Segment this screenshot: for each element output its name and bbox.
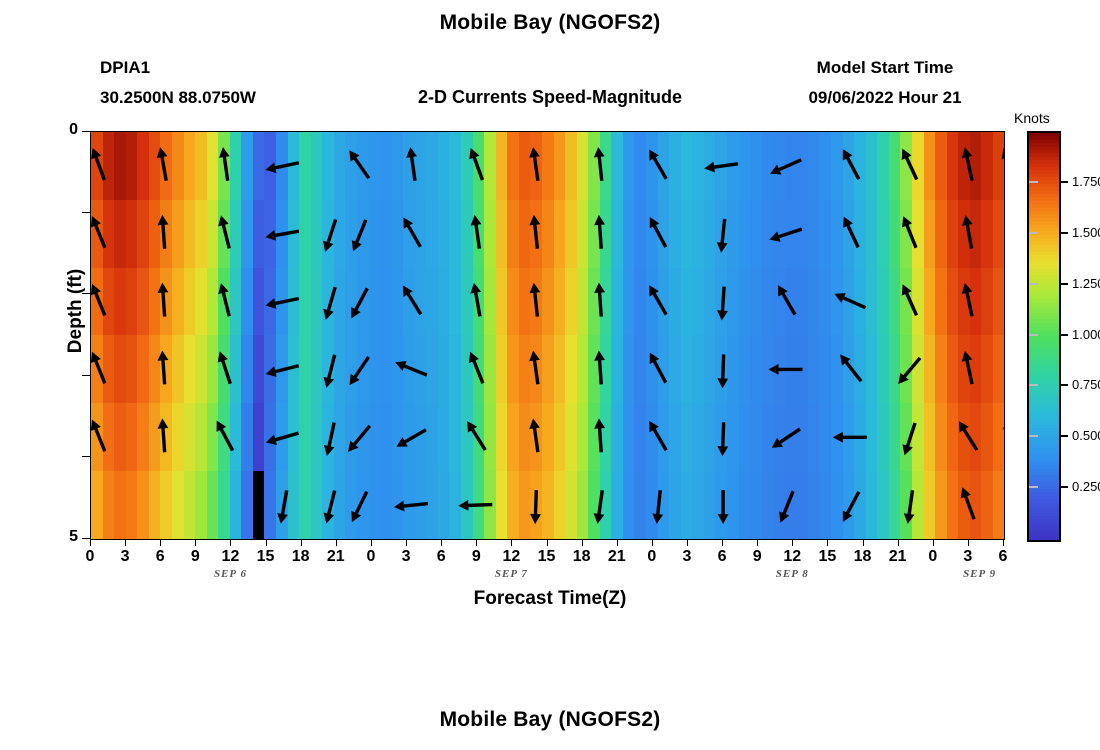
heatmap-cell bbox=[114, 200, 126, 268]
heatmap-cell bbox=[299, 132, 311, 200]
heatmap-cell bbox=[241, 268, 253, 336]
heatmap-cell bbox=[947, 335, 959, 403]
heatmap-cell bbox=[530, 132, 542, 200]
heatmap-cell bbox=[299, 471, 311, 539]
heatmap-cell bbox=[958, 268, 970, 336]
y-axis-tick-label: 0 bbox=[48, 121, 78, 139]
x-axis-tick-label: 0 bbox=[356, 548, 386, 566]
heatmap-cell bbox=[727, 132, 739, 200]
model-start-time-label: Model Start Time bbox=[760, 58, 1010, 78]
heatmap-cell bbox=[137, 471, 149, 539]
heatmap-cell bbox=[611, 268, 623, 336]
heatmap-cell bbox=[172, 403, 184, 471]
heatmap-cell bbox=[762, 403, 774, 471]
y-axis-tick bbox=[82, 538, 90, 539]
heatmap-cell bbox=[91, 471, 103, 539]
heatmap-cell bbox=[461, 335, 473, 403]
heatmap-cell bbox=[669, 200, 681, 268]
heatmap-cell bbox=[449, 471, 461, 539]
heatmap-cell bbox=[924, 471, 936, 539]
heatmap-cell bbox=[519, 268, 531, 336]
heatmap-cell bbox=[114, 268, 126, 336]
heatmap-cell bbox=[438, 335, 450, 403]
heatmap-cell bbox=[819, 268, 831, 336]
heatmap-cell bbox=[276, 403, 288, 471]
x-axis-tick-label: 0 bbox=[637, 548, 667, 566]
heatmap-cell bbox=[750, 335, 762, 403]
colorbar-tick-inner bbox=[1029, 283, 1038, 285]
heatmap-cell bbox=[322, 335, 334, 403]
heatmap-cell bbox=[958, 335, 970, 403]
heatmap-cell bbox=[958, 471, 970, 539]
heatmap-cell bbox=[554, 132, 566, 200]
heatmap-cell bbox=[854, 132, 866, 200]
page-title-top: Mobile Bay (NGOFS2) bbox=[0, 11, 1100, 35]
heatmap-cell bbox=[669, 471, 681, 539]
colorbar-title: Knots bbox=[1014, 110, 1050, 126]
heatmap-cell bbox=[831, 471, 843, 539]
x-axis-tick-label: 6 bbox=[707, 548, 737, 566]
heatmap-row bbox=[91, 335, 1004, 403]
heatmap-cell bbox=[530, 268, 542, 336]
heatmap-cell bbox=[854, 471, 866, 539]
heatmap-cell bbox=[484, 268, 496, 336]
heatmap-cell bbox=[207, 335, 219, 403]
heatmap-cell bbox=[126, 132, 138, 200]
heatmap-cell bbox=[924, 268, 936, 336]
heatmap-cell bbox=[530, 403, 542, 471]
heatmap-cell bbox=[461, 132, 473, 200]
colorbar-tick-label: 1.500 bbox=[1072, 225, 1100, 240]
heatmap-cell bbox=[970, 268, 982, 336]
heatmap-cell bbox=[288, 200, 300, 268]
heatmap-cell bbox=[91, 335, 103, 403]
heatmap-cell bbox=[184, 132, 196, 200]
heatmap-cell bbox=[311, 471, 323, 539]
heatmap-cell bbox=[739, 200, 751, 268]
heatmap-cell bbox=[149, 200, 161, 268]
heatmap-cell bbox=[796, 200, 808, 268]
heatmap-cell bbox=[207, 200, 219, 268]
heatmap-cell bbox=[796, 403, 808, 471]
heatmap-cell bbox=[692, 403, 704, 471]
heatmap-cell bbox=[912, 132, 924, 200]
x-axis-tick bbox=[441, 539, 442, 546]
x-axis-tick-label: 12 bbox=[496, 548, 526, 566]
heatmap-cell bbox=[264, 132, 276, 200]
heatmap-cell bbox=[762, 471, 774, 539]
heatmap-cell bbox=[484, 335, 496, 403]
heatmap-cell bbox=[727, 403, 739, 471]
heatmap-cell bbox=[276, 268, 288, 336]
heatmap-cell bbox=[276, 132, 288, 200]
heatmap-cell bbox=[195, 132, 207, 200]
heatmap-cell bbox=[646, 200, 658, 268]
heatmap-cell bbox=[218, 335, 230, 403]
heatmap-cell bbox=[704, 268, 716, 336]
x-axis-tick bbox=[863, 539, 864, 546]
heatmap-cell bbox=[958, 403, 970, 471]
heatmap-cell bbox=[530, 200, 542, 268]
heatmap-cell bbox=[947, 200, 959, 268]
heatmap-cell bbox=[889, 335, 901, 403]
heatmap-cell bbox=[981, 403, 993, 471]
heatmap-cell bbox=[103, 471, 115, 539]
heatmap-cell bbox=[600, 403, 612, 471]
heatmap-cell bbox=[762, 200, 774, 268]
heatmap-cell bbox=[172, 471, 184, 539]
heatmap-cell bbox=[692, 132, 704, 200]
heatmap-cell bbox=[172, 268, 184, 336]
heatmap-cell bbox=[843, 200, 855, 268]
heatmap-cell bbox=[727, 200, 739, 268]
heatmap-cell bbox=[947, 471, 959, 539]
heatmap-cell bbox=[276, 471, 288, 539]
heatmap-cell bbox=[160, 335, 172, 403]
heatmap-cell bbox=[681, 268, 693, 336]
heatmap-cell bbox=[426, 268, 438, 336]
x-axis-tick bbox=[722, 539, 723, 546]
heatmap-cell bbox=[415, 200, 427, 268]
x-axis-tick-label: 18 bbox=[286, 548, 316, 566]
heatmap-cell bbox=[218, 200, 230, 268]
heatmap-cell bbox=[160, 268, 172, 336]
x-axis-day-label: SEP 7 bbox=[471, 568, 551, 580]
x-axis-tick bbox=[266, 539, 267, 546]
heatmap-cell bbox=[924, 335, 936, 403]
heatmap-cell bbox=[877, 268, 889, 336]
heatmap-cell bbox=[634, 268, 646, 336]
heatmap-cell bbox=[715, 132, 727, 200]
heatmap-cell bbox=[704, 403, 716, 471]
heatmap-cell bbox=[415, 132, 427, 200]
heatmap-cell bbox=[380, 403, 392, 471]
heatmap-cell bbox=[912, 200, 924, 268]
heatmap-cell bbox=[496, 335, 508, 403]
heatmap-cell bbox=[785, 200, 797, 268]
heatmap-cell bbox=[438, 200, 450, 268]
heatmap-cell bbox=[808, 268, 820, 336]
heatmap-cell bbox=[727, 471, 739, 539]
heatmap-cell bbox=[103, 132, 115, 200]
x-axis-day-label: SEP 8 bbox=[752, 568, 832, 580]
heatmap-cell bbox=[484, 200, 496, 268]
heatmap-cell bbox=[230, 403, 242, 471]
x-axis-tick bbox=[827, 539, 828, 546]
x-axis-tick bbox=[125, 539, 126, 546]
heatmap-cell bbox=[149, 403, 161, 471]
heatmap-cell bbox=[611, 403, 623, 471]
heatmap-cell bbox=[646, 471, 658, 539]
heatmap-cell bbox=[519, 132, 531, 200]
heatmap-cell bbox=[311, 132, 323, 200]
x-axis-tick bbox=[301, 539, 302, 546]
heatmap-cell bbox=[600, 268, 612, 336]
heatmap-cell bbox=[415, 403, 427, 471]
heatmap-cell bbox=[496, 268, 508, 336]
heatmap-cell bbox=[993, 200, 1005, 268]
heatmap-cell bbox=[195, 403, 207, 471]
heatmap-cell bbox=[993, 132, 1005, 200]
heatmap-cell bbox=[230, 471, 242, 539]
heatmap-cell bbox=[750, 403, 762, 471]
heatmap-cell bbox=[299, 200, 311, 268]
colorbar-tick bbox=[1059, 232, 1068, 234]
heatmap-cell bbox=[449, 335, 461, 403]
heatmap-cell bbox=[461, 268, 473, 336]
heatmap-cell bbox=[715, 471, 727, 539]
heatmap-cell bbox=[207, 403, 219, 471]
heatmap-cell bbox=[658, 471, 670, 539]
heatmap-cell bbox=[369, 335, 381, 403]
x-axis-tick bbox=[476, 539, 477, 546]
heatmap-cell bbox=[126, 268, 138, 336]
colorbar-tick bbox=[1059, 486, 1068, 488]
heatmap-cell bbox=[426, 403, 438, 471]
x-axis-tick-label: 12 bbox=[215, 548, 245, 566]
heatmap-cell bbox=[935, 335, 947, 403]
heatmap-cell bbox=[357, 471, 369, 539]
heatmap-cell bbox=[993, 471, 1005, 539]
heatmap-cell bbox=[739, 335, 751, 403]
heatmap-cell bbox=[519, 471, 531, 539]
heatmap-cell bbox=[681, 200, 693, 268]
heatmap-cell bbox=[843, 132, 855, 200]
heatmap-cell bbox=[415, 268, 427, 336]
colorbar-tick-inner bbox=[1029, 486, 1038, 488]
heatmap-cell bbox=[172, 132, 184, 200]
heatmap-cell bbox=[496, 132, 508, 200]
heatmap-cell bbox=[796, 471, 808, 539]
heatmap-cell bbox=[473, 268, 485, 336]
heatmap-row bbox=[91, 471, 1004, 539]
heatmap-cell bbox=[149, 335, 161, 403]
heatmap-cell bbox=[241, 335, 253, 403]
heatmap-cell bbox=[681, 132, 693, 200]
heatmap-cell bbox=[739, 471, 751, 539]
heatmap-row bbox=[91, 403, 1004, 471]
heatmap-cell bbox=[160, 471, 172, 539]
heatmap-cell bbox=[808, 132, 820, 200]
x-axis-tick-label: 21 bbox=[321, 548, 351, 566]
heatmap-cell bbox=[184, 200, 196, 268]
heatmap-cell bbox=[403, 471, 415, 539]
x-axis-tick bbox=[687, 539, 688, 546]
heatmap-cell bbox=[357, 335, 369, 403]
x-axis-tick bbox=[617, 539, 618, 546]
heatmap-cell bbox=[496, 403, 508, 471]
heatmap-cell bbox=[681, 403, 693, 471]
heatmap-cell bbox=[588, 471, 600, 539]
heatmap-cell bbox=[184, 268, 196, 336]
heatmap-cell bbox=[935, 132, 947, 200]
heatmap-cell bbox=[369, 268, 381, 336]
heatmap-cell bbox=[264, 200, 276, 268]
colorbar-tick bbox=[1059, 435, 1068, 437]
x-axis-tick bbox=[652, 539, 653, 546]
heatmap-cell bbox=[403, 403, 415, 471]
heatmap-cell bbox=[392, 403, 404, 471]
heatmap-cell bbox=[114, 403, 126, 471]
heatmap-cell bbox=[345, 200, 357, 268]
heatmap-cell bbox=[831, 200, 843, 268]
heatmap-cell bbox=[692, 335, 704, 403]
heatmap-cell bbox=[369, 471, 381, 539]
heatmap-cell bbox=[935, 403, 947, 471]
heatmap-cell bbox=[739, 268, 751, 336]
heatmap-cell bbox=[554, 268, 566, 336]
heatmap-cell bbox=[577, 200, 589, 268]
heatmap-cell bbox=[496, 200, 508, 268]
heatmap-cell bbox=[634, 132, 646, 200]
heatmap-cell bbox=[854, 200, 866, 268]
heatmap-cell bbox=[392, 471, 404, 539]
x-axis-tick-label: 6 bbox=[426, 548, 456, 566]
heatmap-row bbox=[91, 132, 1004, 200]
heatmap-cell bbox=[172, 335, 184, 403]
heatmap-cell bbox=[103, 335, 115, 403]
y-axis-tick bbox=[82, 293, 90, 294]
heatmap-cell bbox=[276, 335, 288, 403]
heatmap-cell bbox=[623, 403, 635, 471]
heatmap-cell bbox=[623, 268, 635, 336]
heatmap-cell bbox=[600, 132, 612, 200]
heatmap-cell bbox=[808, 403, 820, 471]
x-axis-label: Forecast Time(Z) bbox=[0, 588, 1100, 610]
heatmap-cell bbox=[773, 471, 785, 539]
heatmap-cell bbox=[126, 335, 138, 403]
heatmap-cell bbox=[981, 268, 993, 336]
heatmap-cell bbox=[993, 335, 1005, 403]
heatmap-cell bbox=[889, 403, 901, 471]
heatmap-cell bbox=[970, 132, 982, 200]
colorbar-tick-label: 1.750 bbox=[1072, 174, 1100, 189]
heatmap-cell bbox=[195, 471, 207, 539]
heatmap-cell bbox=[970, 200, 982, 268]
colorbar-tick-label: 0.500 bbox=[1072, 428, 1100, 443]
x-axis-tick-label: 21 bbox=[602, 548, 632, 566]
heatmap-cell bbox=[669, 132, 681, 200]
x-axis-tick-label: 3 bbox=[672, 548, 702, 566]
heatmap-cell bbox=[704, 335, 716, 403]
heatmap-cell bbox=[126, 200, 138, 268]
heatmap-cell bbox=[588, 200, 600, 268]
heatmap-cell bbox=[866, 403, 878, 471]
heatmap-cell bbox=[507, 268, 519, 336]
x-axis-tick bbox=[371, 539, 372, 546]
heatmap-cell bbox=[91, 403, 103, 471]
heatmap-cell bbox=[322, 403, 334, 471]
heatmap-cell bbox=[369, 200, 381, 268]
heatmap-cell bbox=[253, 335, 265, 403]
heatmap-cell bbox=[843, 335, 855, 403]
heatmap-cell bbox=[981, 335, 993, 403]
heatmap-cell bbox=[184, 403, 196, 471]
heatmap-cell bbox=[634, 200, 646, 268]
heatmap-cell bbox=[114, 471, 126, 539]
heatmap-cell bbox=[345, 403, 357, 471]
colorbar-tick bbox=[1059, 283, 1068, 285]
heatmap-cell bbox=[253, 132, 265, 200]
x-axis-tick bbox=[195, 539, 196, 546]
y-axis-tick bbox=[82, 375, 90, 376]
heatmap-cell bbox=[750, 132, 762, 200]
heatmap-cell bbox=[311, 200, 323, 268]
heatmap-cell bbox=[311, 268, 323, 336]
heatmap-cell bbox=[519, 335, 531, 403]
heatmap-cell bbox=[715, 403, 727, 471]
heatmap-cell bbox=[785, 268, 797, 336]
heatmap-cell bbox=[334, 268, 346, 336]
x-axis-tick bbox=[792, 539, 793, 546]
heatmap-cell bbox=[345, 268, 357, 336]
x-axis-tick bbox=[933, 539, 934, 546]
heatmap-cell bbox=[762, 268, 774, 336]
heatmap-cell bbox=[739, 132, 751, 200]
x-axis-tick-label: 15 bbox=[812, 548, 842, 566]
colorbar-tick-label: 0.250 bbox=[1072, 479, 1100, 494]
heatmap-cell bbox=[611, 471, 623, 539]
heatmap-cell bbox=[565, 200, 577, 268]
heatmap-cell bbox=[438, 471, 450, 539]
heatmap-row bbox=[91, 268, 1004, 336]
heatmap-cell bbox=[519, 403, 531, 471]
model-start-time-value: 09/06/2022 Hour 21 bbox=[760, 88, 1010, 108]
heatmap-cell bbox=[507, 200, 519, 268]
heatmap-cell bbox=[577, 471, 589, 539]
heatmap-cell bbox=[831, 335, 843, 403]
heatmap-cell bbox=[449, 132, 461, 200]
heatmap-cell bbox=[554, 403, 566, 471]
heatmap-cell bbox=[276, 200, 288, 268]
heatmap-cell bbox=[137, 335, 149, 403]
heatmap-cell bbox=[542, 268, 554, 336]
heatmap-cell bbox=[288, 268, 300, 336]
heatmap-cell bbox=[426, 335, 438, 403]
heatmap-cell bbox=[207, 268, 219, 336]
heatmap-cell bbox=[935, 200, 947, 268]
heatmap-cell bbox=[658, 403, 670, 471]
heatmap-cell bbox=[218, 471, 230, 539]
heatmap-cell bbox=[900, 132, 912, 200]
heatmap-cell bbox=[322, 268, 334, 336]
heatmap-cell bbox=[704, 200, 716, 268]
heatmap-cell bbox=[819, 200, 831, 268]
heatmap-cell bbox=[334, 132, 346, 200]
heatmap-cell bbox=[241, 471, 253, 539]
x-axis-tick-label: 0 bbox=[918, 548, 948, 566]
heatmap-cell bbox=[843, 268, 855, 336]
x-axis-tick-label: 21 bbox=[883, 548, 913, 566]
heatmap-cell bbox=[299, 268, 311, 336]
heatmap-cell bbox=[762, 335, 774, 403]
heatmap-cell bbox=[854, 268, 866, 336]
x-axis-tick-label: 6 bbox=[145, 548, 175, 566]
heatmap-cell bbox=[403, 268, 415, 336]
x-axis-tick-label: 18 bbox=[567, 548, 597, 566]
heatmap-cell bbox=[207, 471, 219, 539]
heatmap-cell bbox=[947, 403, 959, 471]
heatmap-cell bbox=[785, 335, 797, 403]
heatmap-cell bbox=[253, 403, 265, 471]
heatmap-cell bbox=[496, 471, 508, 539]
heatmap-cell bbox=[380, 335, 392, 403]
heatmap-cell bbox=[715, 335, 727, 403]
heatmap-cell bbox=[588, 268, 600, 336]
x-axis-tick-label: 9 bbox=[461, 548, 491, 566]
heatmap-cell bbox=[646, 132, 658, 200]
heatmap-cell bbox=[773, 335, 785, 403]
